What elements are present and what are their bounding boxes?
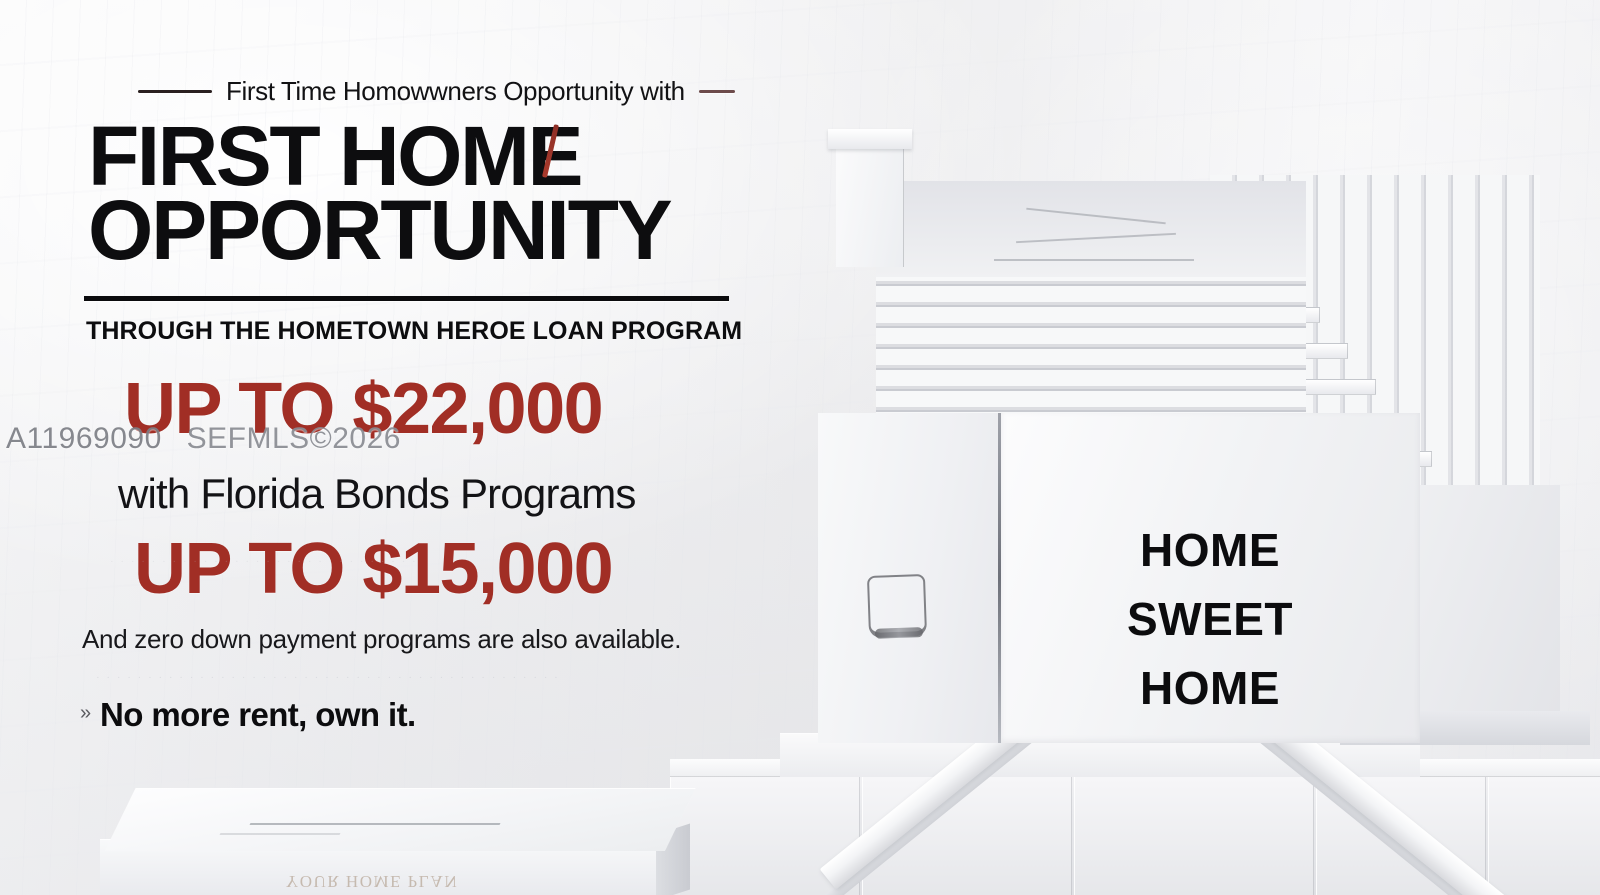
bonds-program-line: with Florida Bonds Programs [118,470,636,518]
gable-louver-panel [876,181,1306,413]
call-to-action-text: No more rent, own it. [100,696,416,734]
ground-slab [1488,777,1600,895]
program-subtitle: THROUGH THE HOMETOWN HEROE LOAN PROGRAM [86,317,742,346]
watermark-listing-id: A11969090 [6,422,162,455]
page-title-line-2: OPPORTUNITY [88,192,671,269]
wall-text-line-2: SWEET [1008,585,1412,654]
eyebrow-rule-right-icon [699,90,735,93]
wall-text-line-1: HOME [1008,516,1412,585]
house-wall-sign: HOME SWEET HOME [1008,516,1412,723]
door-handle-icon [867,574,927,638]
title-divider [84,296,729,301]
mls-watermark: A11969090 SEFMLS©2026 [6,422,401,456]
amount-secondary: UP TO $15,000 [134,528,612,610]
door-seam [998,413,1001,743]
eyebrow-text: First Time Homowwners Opportunity with [226,76,685,107]
advertisement-image: HOME SWEET HOME YOUR HOME PLAN First Tim… [0,0,1600,895]
watermark-source: SEFMLS©2026 [187,422,401,455]
eyebrow-rule-left-icon [138,90,212,93]
attic-truss [994,259,1194,261]
house-model-scene: HOME SWEET HOME [740,0,1600,895]
gable-peak-shadow [876,181,1306,277]
wall-text-line-3: HOME [1008,654,1412,723]
eyebrow-row: First Time Homowwners Opportunity with [138,76,735,107]
ground-slab [1074,777,1314,895]
texture-ghost-line: · · · · · · · · · · · · · · · · · · · · … [96,672,560,684]
stair-step [1304,379,1376,395]
cta-bullet-icon: » [80,702,91,725]
chimney-cap [828,129,912,149]
zero-down-note: And zero down payment programs are also … [82,624,681,655]
chimney [836,139,904,267]
